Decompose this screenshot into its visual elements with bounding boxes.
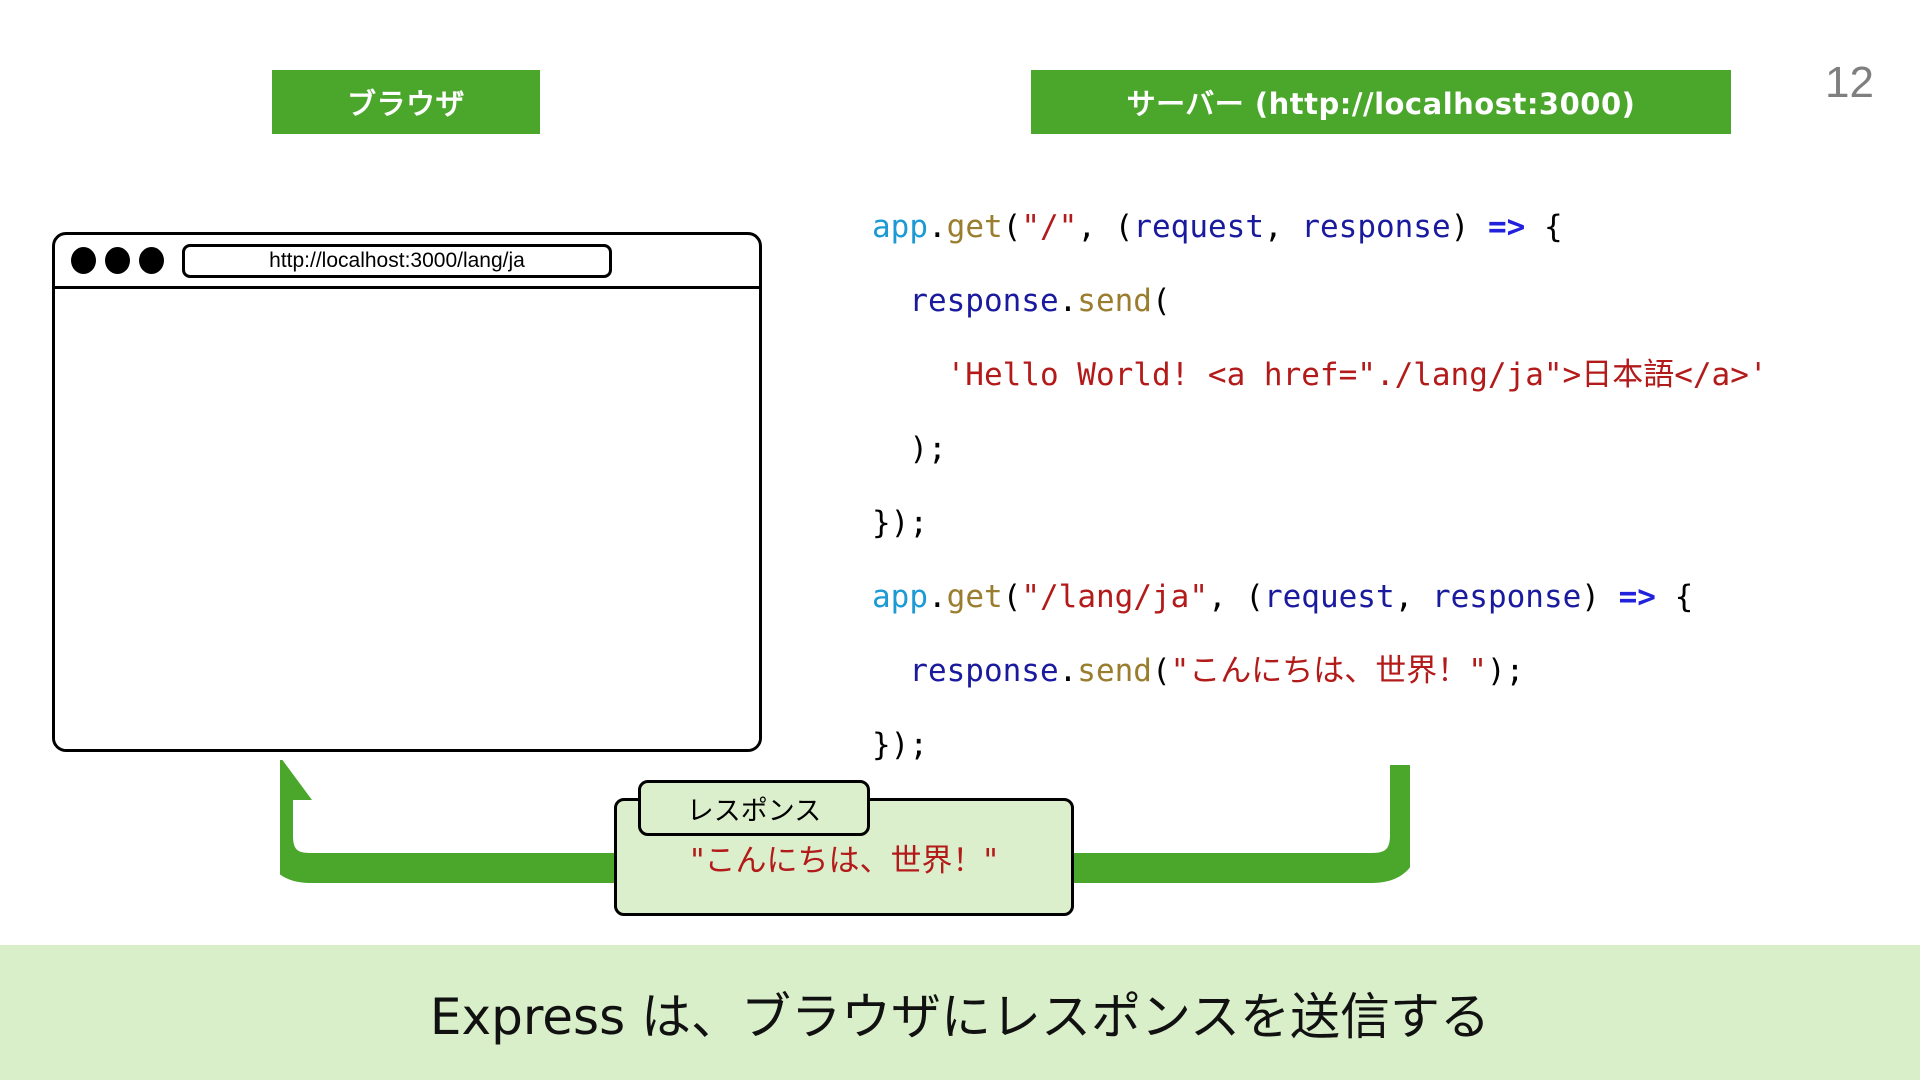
response-callout-body: "こんにちは、世界！"	[690, 835, 998, 880]
code-line: response.send("こんにちは、世界！");	[872, 634, 1768, 708]
code-token: (	[1003, 209, 1022, 245]
code-token: )	[1451, 209, 1488, 245]
traffic-light-minimize-icon[interactable]	[105, 247, 130, 274]
code-line: 'Hello World! <a href="./lang/ja">日本語</a…	[872, 338, 1768, 412]
code-token: response	[909, 653, 1058, 689]
response-callout-tab-label: レスポンス	[687, 789, 821, 828]
code-token: request	[1133, 209, 1264, 245]
server-section-header-label: サーバー (http://localhost:3000)	[1127, 81, 1636, 123]
code-line: );	[872, 412, 1768, 486]
code-token: send	[1077, 283, 1152, 319]
code-token: get	[947, 579, 1003, 615]
code-token: "/"	[1021, 209, 1077, 245]
browser-section-header: ブラウザ	[272, 70, 540, 134]
code-token: response	[909, 283, 1058, 319]
page-number: 12	[1825, 58, 1874, 108]
code-line: app.get("/", (request, response) => {	[872, 190, 1768, 264]
code-token: , (	[1208, 579, 1264, 615]
caption-text: Express は、ブラウザにレスポンスを送信する	[430, 977, 1490, 1049]
code-token: });	[872, 727, 928, 763]
code-line: });	[872, 708, 1768, 782]
code-token: ,	[1264, 209, 1301, 245]
code-token: )	[1581, 579, 1618, 615]
browser-viewport	[55, 289, 759, 749]
traffic-light-close-icon[interactable]	[71, 247, 96, 274]
browser-window: http://localhost:3000/lang/ja	[52, 232, 762, 752]
code-token: request	[1264, 579, 1395, 615]
code-token: app	[872, 209, 928, 245]
code-token: send	[1077, 653, 1152, 689]
code-token: .	[928, 579, 947, 615]
code-token: "/lang/ja"	[1021, 579, 1208, 615]
code-token: (	[1152, 283, 1171, 319]
code-token: {	[1656, 579, 1693, 615]
traffic-light-maximize-icon[interactable]	[139, 247, 164, 274]
code-token: get	[947, 209, 1003, 245]
server-section-header: サーバー (http://localhost:3000)	[1031, 70, 1731, 134]
code-token: app	[872, 579, 928, 615]
browser-url-text: http://localhost:3000/lang/ja	[269, 249, 525, 273]
code-token: );	[1487, 653, 1524, 689]
code-line: app.get("/lang/ja", (request, response) …	[872, 560, 1768, 634]
code-token: {	[1525, 209, 1562, 245]
response-callout-tab: レスポンス	[638, 780, 870, 836]
code-line: });	[872, 486, 1768, 560]
code-token: (	[1152, 653, 1171, 689]
code-line: response.send(	[872, 264, 1768, 338]
caption-banner: Express は、ブラウザにレスポンスを送信する	[0, 945, 1920, 1080]
code-token: response	[1301, 209, 1450, 245]
code-token: =>	[1619, 579, 1656, 615]
browser-chrome-bar: http://localhost:3000/lang/ja	[55, 235, 759, 289]
code-token: .	[1059, 283, 1078, 319]
code-token: =>	[1488, 209, 1525, 245]
code-token: , (	[1077, 209, 1133, 245]
code-token: "こんにちは、世界！"	[1171, 653, 1487, 689]
code-token: );	[909, 431, 946, 467]
code-token: .	[1059, 653, 1078, 689]
code-token: (	[1003, 579, 1022, 615]
code-token: 'Hello World! <a href="./lang/ja">日本語</a…	[947, 357, 1768, 393]
browser-section-header-label: ブラウザ	[347, 81, 465, 123]
browser-url-bar[interactable]: http://localhost:3000/lang/ja	[182, 244, 612, 278]
code-token: });	[872, 505, 928, 541]
code-token: response	[1432, 579, 1581, 615]
server-code-block: app.get("/", (request, response) => {res…	[872, 190, 1768, 782]
code-token: ,	[1395, 579, 1432, 615]
code-token: .	[928, 209, 947, 245]
